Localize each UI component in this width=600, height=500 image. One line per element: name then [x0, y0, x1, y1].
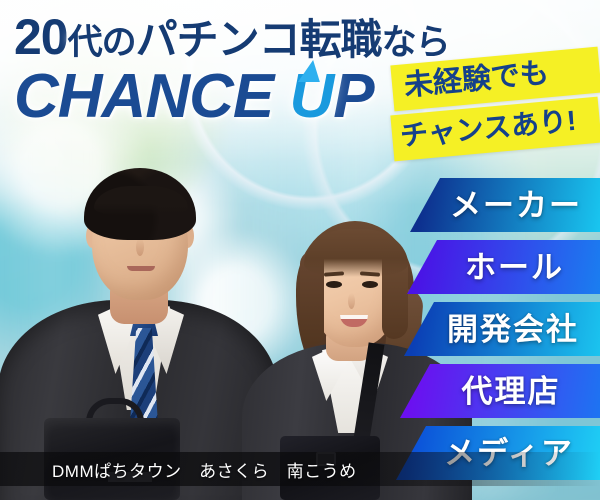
male-mouth [127, 266, 155, 271]
headline-age-number: 20 [14, 9, 68, 65]
credit-text: DMMぱちタウン あさくら 南こうめ [52, 457, 357, 482]
chance-word: CHANCE [14, 62, 273, 131]
credit-strip: DMMぱちタウン あさくら 南こうめ [0, 452, 600, 486]
category-label-hall: ホール [437, 252, 570, 283]
female-eye-left [326, 281, 342, 288]
female-nose [348, 293, 355, 309]
category-bar-developer[interactable]: 開発会社 [404, 302, 600, 356]
category-label-maker: メーカー [422, 190, 588, 221]
headline-block: 20代のパチンコ転職なら CHANCE UP [14, 14, 434, 130]
category-bar-agency[interactable]: 代理店 [400, 364, 600, 418]
category-bar-hall[interactable]: ホール [407, 240, 600, 294]
category-bar-maker[interactable]: メーカー [410, 178, 600, 232]
headline-line-2: CHANCE UP [14, 64, 434, 130]
category-label-developer: 開発会社 [419, 314, 585, 345]
headline-age-suffix: 代の [68, 23, 136, 62]
category-label-agency: 代理店 [434, 376, 567, 407]
category-bar-list: メーカー ホール 開発会社 代理店 メディア [396, 178, 600, 480]
male-nose [136, 238, 144, 256]
inexperienced-welcome-badge: 未経験でも チャンスあり! [392, 56, 600, 152]
headline-line-1: 20代のパチンコ転職なら [14, 14, 434, 66]
up-letter-p: P [333, 62, 373, 131]
pachinko-job-banner: 20代のパチンコ転職なら CHANCE UP 未経験でも チャンスあり! メーカ… [0, 0, 600, 500]
headline-keyword: パチンコ転職 [136, 16, 382, 63]
male-hair-fringe [94, 186, 188, 216]
female-eye-right [362, 281, 378, 288]
up-letter-u: U [289, 64, 333, 130]
